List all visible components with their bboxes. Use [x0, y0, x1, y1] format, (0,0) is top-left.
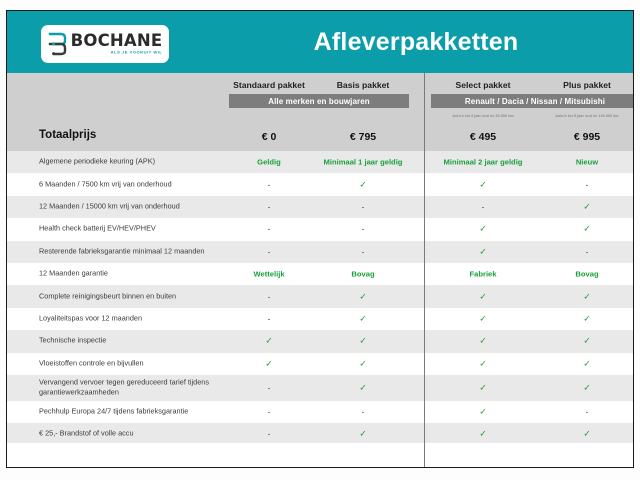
header-banner: BOCHANE ALS JE VOORUIT WIL Afleverpakket…	[7, 11, 633, 73]
poster-page: BOCHANE ALS JE VOORUIT WIL Afleverpakket…	[0, 0, 640, 480]
cell-plus: ✓	[535, 313, 634, 324]
cell-basis: ✓	[317, 291, 409, 302]
total-price-label: Totaalprijs	[39, 129, 96, 141]
cell-plus: ✓	[535, 224, 634, 235]
column-group-divider	[424, 73, 425, 468]
cell-basis: -	[317, 408, 409, 417]
cell-plus: ✓	[535, 358, 634, 369]
cell-basis: ✓	[317, 336, 409, 347]
cell-plus: ✓	[535, 429, 634, 440]
cell-standaard: -	[223, 225, 315, 234]
comparison-sheet: BOCHANE ALS JE VOORUIT WIL Afleverpakket…	[6, 10, 634, 468]
cell-standaard: -	[223, 292, 315, 301]
cell-select: ✓	[431, 313, 535, 324]
cell-standaard: -	[223, 430, 315, 439]
cell-standaard: -	[223, 383, 315, 392]
column-header-select: Select pakket	[431, 80, 535, 90]
cell-standaard: Geldig	[223, 158, 315, 167]
feature-label: Algemene periodieke keuring (APK)	[39, 157, 219, 168]
cell-plus: ✓	[535, 291, 634, 302]
subnote-select: Auto's tot 3 jaar oud en 30.000 km	[431, 114, 535, 122]
cell-select: ✓	[431, 358, 535, 369]
logo-tagline: ALS JE VOORUIT WIL	[111, 51, 163, 55]
cell-basis: -	[317, 247, 409, 256]
cell-basis: -	[317, 202, 409, 211]
total-price-row: Totaalprijs € 0 € 795 € 495 € 995	[7, 125, 633, 151]
subnote-plus: Auto's tot 5 jaar oud en 100.000 km	[535, 114, 634, 122]
table-row: Pechhulp Europa 24/7 tijdens fabrieksgar…	[7, 401, 633, 423]
table-row: Complete reinigingsbeurt binnen en buite…	[7, 285, 633, 307]
column-header-standaard: Standaard pakket	[223, 80, 315, 90]
table-row: Algemene periodieke keuring (APK)GeldigM…	[7, 151, 633, 173]
feature-label: Health check batterij EV/HEV/PHEV	[39, 224, 219, 235]
table-row: Vervangend vervoer tegen gereduceerd tar…	[7, 375, 633, 401]
cell-standaard: -	[223, 247, 315, 256]
cell-plus: ✓	[535, 382, 634, 393]
price-select: € 495	[431, 131, 535, 143]
table-row: Technische inspectie✓✓✓✓	[7, 330, 633, 352]
cell-basis: Bovag	[317, 270, 409, 279]
price-basis: € 795	[317, 131, 409, 143]
cell-select: ✓	[431, 407, 535, 418]
cell-plus: ✓	[535, 336, 634, 347]
feature-label: 6 Maanden / 7500 km vrij van onderhoud	[39, 179, 219, 190]
cell-plus: Nieuw	[535, 158, 634, 167]
feature-label: Vloeistoffen controle en bijvullen	[39, 358, 219, 369]
table-row: 12 Maanden / 15000 km vrij van onderhoud…	[7, 196, 633, 218]
feature-label: Resterende fabrieksgarantie minimaal 12 …	[39, 246, 219, 257]
cell-select: ✓	[431, 246, 535, 257]
cell-select: Minimaal 2 jaar geldig	[431, 158, 535, 167]
column-header-basis: Basis pakket	[317, 80, 409, 90]
bochane-logo[interactable]: BOCHANE ALS JE VOORUIT WIL	[41, 25, 169, 63]
price-plus: € 995	[535, 131, 634, 143]
cell-basis: ✓	[317, 382, 409, 393]
cell-select: Fabriek	[431, 270, 535, 279]
table-row: Vloeistoffen controle en bijvullen✓✓✓✓	[7, 353, 633, 375]
cell-standaard: ✓	[223, 358, 315, 369]
cell-basis: ✓	[317, 179, 409, 190]
page-title: Afleverpakketten	[197, 11, 634, 73]
cell-select: ✓	[431, 382, 535, 393]
cell-select: -	[431, 202, 535, 211]
bochane-b-icon	[48, 32, 67, 56]
cell-select: ✓	[431, 429, 535, 440]
cell-basis: ✓	[317, 313, 409, 324]
feature-label: 12 Maanden / 15000 km vrij van onderhoud	[39, 202, 219, 213]
cell-plus: -	[535, 408, 634, 417]
feature-label: Complete reinigingsbeurt binnen en buite…	[39, 291, 219, 302]
table-footer-space	[7, 443, 633, 468]
cell-standaard: Wettelijk	[223, 270, 315, 279]
feature-label: € 25,- Brandstof of volle accu	[39, 429, 219, 440]
table-row: Loyaliteitspas voor 12 maanden-✓✓✓	[7, 308, 633, 330]
cell-standaard: -	[223, 180, 315, 189]
feature-label: 12 Maanden garantie	[39, 269, 219, 280]
cell-plus: ✓	[535, 201, 634, 212]
logo-wordmark: BOCHANE	[71, 33, 163, 50]
column-header-plus: Plus pakket	[535, 80, 634, 90]
cell-plus: -	[535, 180, 634, 189]
cell-plus: Bovag	[535, 270, 634, 279]
cell-basis: ✓	[317, 429, 409, 440]
cell-standaard: ✓	[223, 336, 315, 347]
brand-bar-right: Renault / Dacia / Nissan / Mitsubishi	[431, 94, 634, 108]
feature-label: Loyaliteitspas voor 12 maanden	[39, 314, 219, 325]
cell-select: ✓	[431, 291, 535, 302]
feature-label: Technische inspectie	[39, 336, 219, 347]
table-row: 12 Maanden garantieWettelijkBovagFabriek…	[7, 263, 633, 285]
cell-basis: Minimaal 1 jaar geldig	[317, 158, 409, 167]
package-header-block: Standaard pakket Basis pakket Select pak…	[7, 73, 633, 151]
cell-basis: ✓	[317, 358, 409, 369]
feature-label: Vervangend vervoer tegen gereduceerd tar…	[39, 377, 219, 398]
cell-basis: -	[317, 225, 409, 234]
cell-select: ✓	[431, 179, 535, 190]
cell-select: ✓	[431, 336, 535, 347]
table-row: Health check batterij EV/HEV/PHEV--✓✓	[7, 218, 633, 240]
cell-standaard: -	[223, 314, 315, 323]
table-row: 6 Maanden / 7500 km vrij van onderhoud-✓…	[7, 173, 633, 195]
feature-table: Algemene periodieke keuring (APK)GeldigM…	[7, 151, 633, 468]
cell-standaard: -	[223, 408, 315, 417]
cell-select: ✓	[431, 224, 535, 235]
table-row: Resterende fabrieksgarantie minimaal 12 …	[7, 241, 633, 263]
feature-label: Pechhulp Europa 24/7 tijdens fabrieksgar…	[39, 407, 219, 418]
cell-plus: -	[535, 247, 634, 256]
price-standaard: € 0	[223, 131, 315, 143]
brand-bar-left: Alle merken en bouwjaren	[229, 94, 409, 108]
cell-standaard: -	[223, 202, 315, 211]
